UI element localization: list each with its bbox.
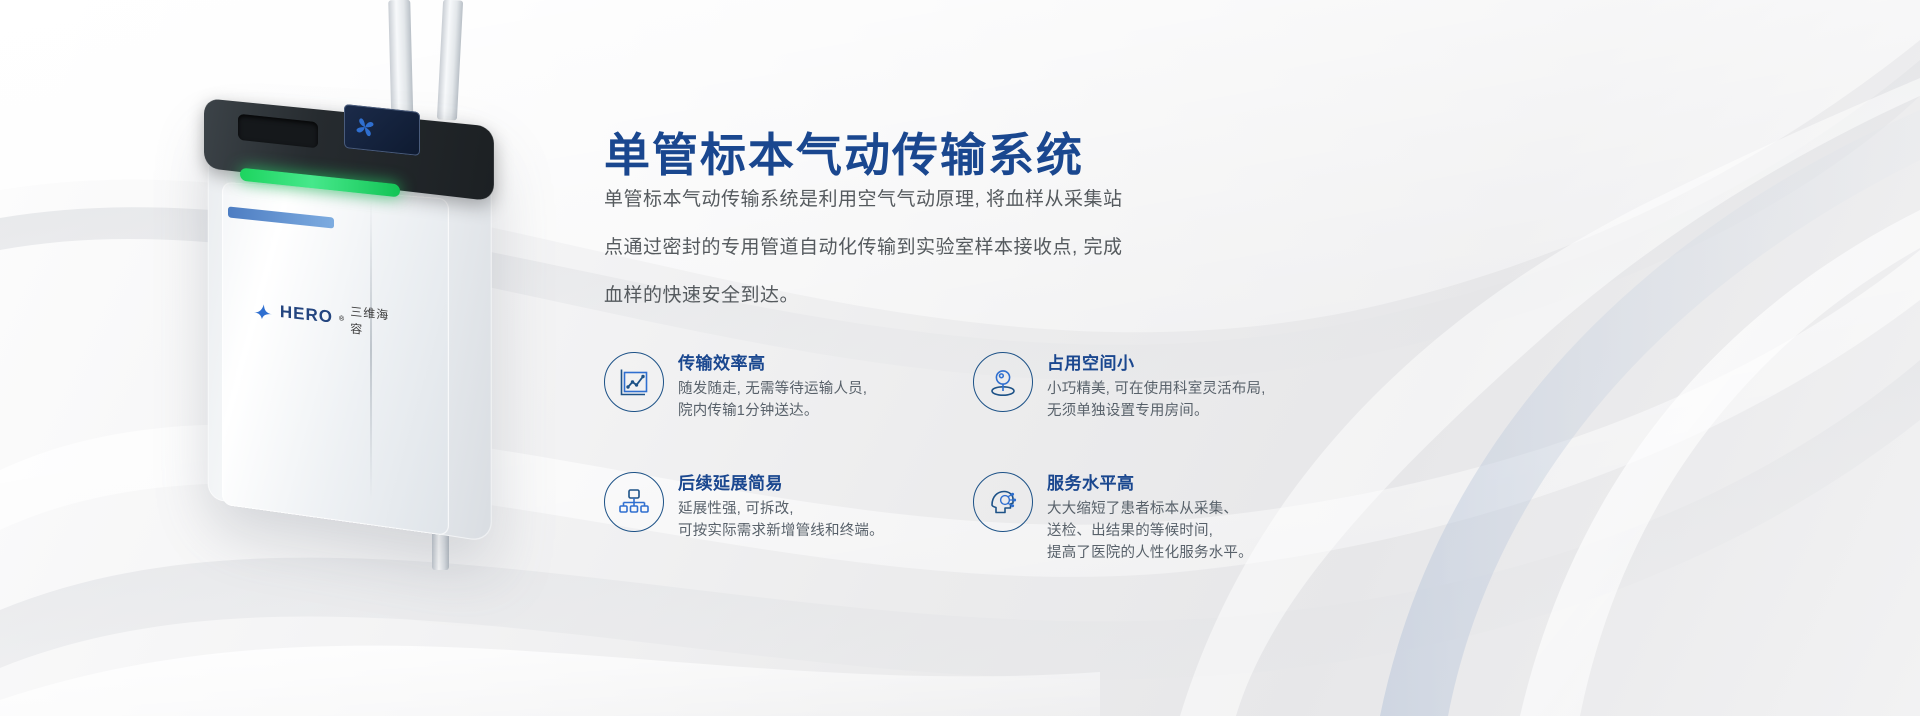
device-display [344,104,420,156]
product-illustration: HERO ® 三维海容 [0,0,560,716]
feature-desc: 延展性强, 可拆改, 可按实际需求新增管线和终端。 [678,498,884,542]
description-line: 点通过密封的专用管道自动化传输到实验室样本接收点, 完成 [604,224,1254,272]
feature-title: 占用空间小 [1047,349,1265,374]
banner-content: 单管标本气动传输系统 单管标本气动传输系统是利用空气气动原理, 将血样从采集站 … [604,0,1904,716]
feature-text: 后续延展简易 延展性强, 可拆改, 可按实际需求新增管线和终端。 [678,468,884,542]
feature-title: 后续延展简易 [678,469,884,494]
page-title: 单管标本气动传输系统 [604,119,1084,185]
brand-registered-mark: ® [339,315,344,323]
feature-transmission-efficiency: 传输效率高 随发随走, 无需等待运输人员, 院内传输1分钟送达。 [604,348,915,422]
fan-icon [352,113,378,142]
hero-mark-icon [252,299,274,321]
line-chart-icon [604,352,664,412]
description-line: 血样的快速安全到达。 [604,272,1254,320]
brand-chinese-name: 三维海容 [350,302,402,341]
feature-grid: 传输效率高 随发随走, 无需等待运输人员, 院内传输1分钟送达。 [604,348,1284,610]
org-tree-icon [604,472,664,532]
feature-small-footprint: 占用空间小 小巧精美, 可在使用科室灵活布局, 无须单独设置专用房间。 [973,348,1284,422]
feature-desc: 大大缩短了患者标本从采集、 送检、出结果的等候时间, 提高了医院的人性化服务水平… [1047,498,1253,564]
feature-text: 服务水平高 大大缩短了患者标本从采集、 送检、出结果的等候时间, 提高了医院的人… [1047,468,1253,564]
feature-easy-extension: 后续延展简易 延展性强, 可拆改, 可按实际需求新增管线和终端。 [604,468,915,564]
feature-text: 占用空间小 小巧精美, 可在使用科室灵活布局, 无须单独设置专用房间。 [1047,348,1265,422]
head-network-icon [973,472,1033,532]
pneumatic-tube-right [437,0,463,120]
device-panel-seam [370,200,372,500]
product-banner: HERO ® 三维海容 单管标本气动传输系统 单管标本气动传输系统是利用空气气动… [0,0,1920,716]
feature-row-bottom: 后续延展简易 延展性强, 可拆改, 可按实际需求新增管线和终端。 [604,468,1284,610]
product-description: 单管标本气动传输系统是利用空气气动原理, 将血样从采集站 点通过密封的专用管道自… [604,176,1254,320]
feature-title: 服务水平高 [1047,469,1253,494]
feature-desc: 小巧精美, 可在使用科室灵活布局, 无须单独设置专用房间。 [1047,378,1265,422]
feature-title: 传输效率高 [678,349,867,374]
brand-latin-name: HERO [280,302,333,328]
device-front-panel [222,182,449,536]
feature-row-top: 传输效率高 随发随走, 无需等待运输人员, 院内传输1分钟送达。 [604,348,1284,468]
feature-text: 传输效率高 随发随走, 无需等待运输人员, 院内传输1分钟送达。 [678,348,867,422]
description-line: 单管标本气动传输系统是利用空气气动原理, 将血样从采集站 [604,176,1254,224]
feature-service-level: 服务水平高 大大缩短了患者标本从采集、 送检、出结果的等候时间, 提高了医院的人… [973,468,1284,564]
feature-desc: 随发随走, 无需等待运输人员, 院内传输1分钟送达。 [678,378,867,422]
space-pin-icon [973,352,1033,412]
